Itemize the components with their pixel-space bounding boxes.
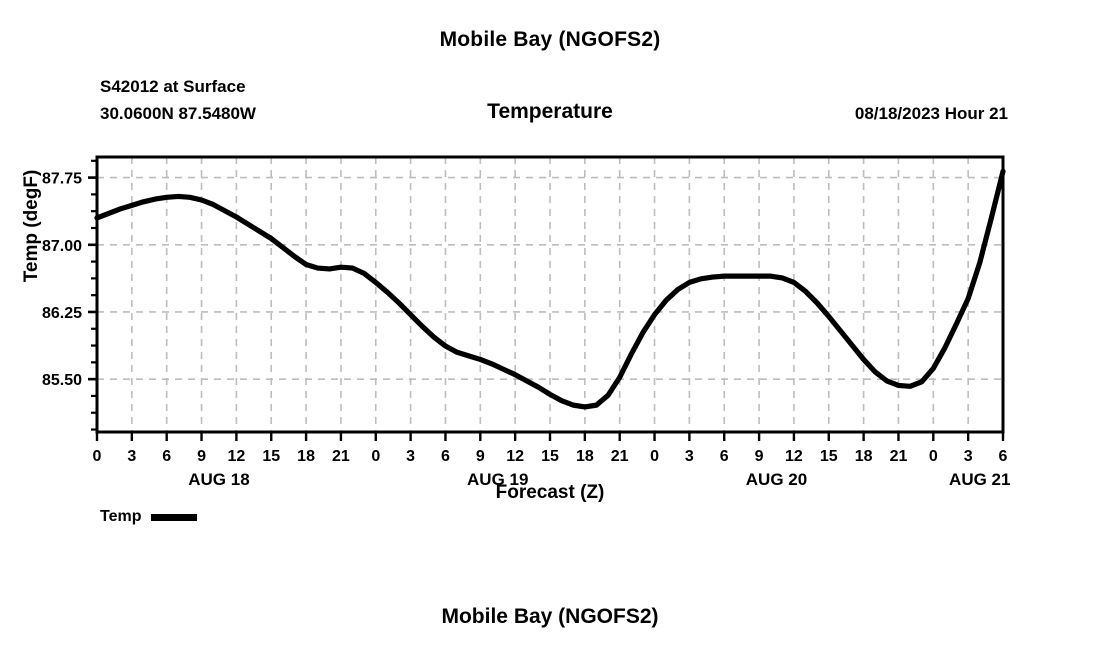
y-tick-label: 85.50 bbox=[42, 372, 82, 389]
x-tick-label: 6 bbox=[720, 448, 729, 465]
x-tick-label: 6 bbox=[999, 448, 1008, 465]
x-axis-day-label: AUG 21 bbox=[949, 470, 1010, 489]
page-title-bottom: Mobile Bay (NGOFS2) bbox=[0, 605, 1100, 629]
x-axis-day-label: AUG 19 bbox=[467, 470, 528, 489]
x-tick-label: 12 bbox=[506, 448, 524, 465]
chart-page: Mobile Bay (NGOFS2) S42012 at Surface 30… bbox=[0, 0, 1100, 650]
x-axis-day-label: AUG 20 bbox=[746, 470, 807, 489]
legend-swatch-temp bbox=[151, 514, 197, 521]
x-tick-label: 18 bbox=[855, 448, 873, 465]
x-tick-label: 3 bbox=[685, 448, 694, 465]
x-tick-label: 0 bbox=[371, 448, 380, 465]
x-tick-label: 3 bbox=[964, 448, 973, 465]
x-tick-label: 0 bbox=[93, 448, 102, 465]
x-tick-label: 3 bbox=[127, 448, 136, 465]
x-tick-label: 21 bbox=[890, 448, 908, 465]
x-tick-label: 18 bbox=[297, 448, 315, 465]
x-axis-day-label: AUG 18 bbox=[188, 470, 249, 489]
x-tick-label: 0 bbox=[650, 448, 659, 465]
x-tick-label: 6 bbox=[441, 448, 450, 465]
x-tick-label: 9 bbox=[476, 448, 485, 465]
x-tick-label: 18 bbox=[576, 448, 594, 465]
legend-label-temp: Temp bbox=[100, 508, 141, 526]
x-tick-label: 9 bbox=[197, 448, 206, 465]
x-tick-label: 6 bbox=[162, 448, 171, 465]
x-tick-label: 21 bbox=[611, 448, 629, 465]
x-tick-label: 21 bbox=[332, 448, 350, 465]
temperature-line-chart: 85.5086.2587.0087.7503691215182103691215… bbox=[0, 0, 1100, 650]
legend: Temp bbox=[100, 508, 197, 526]
x-tick-label: 15 bbox=[262, 448, 280, 465]
x-tick-label: 3 bbox=[406, 448, 415, 465]
y-tick-label: 87.00 bbox=[42, 238, 82, 255]
x-tick-label: 12 bbox=[785, 448, 803, 465]
x-tick-label: 15 bbox=[820, 448, 838, 465]
y-tick-label: 86.25 bbox=[42, 305, 82, 322]
x-tick-label: 0 bbox=[929, 448, 938, 465]
x-tick-label: 15 bbox=[541, 448, 559, 465]
y-tick-label: 87.75 bbox=[42, 171, 82, 188]
x-tick-label: 9 bbox=[755, 448, 764, 465]
x-tick-label: 12 bbox=[227, 448, 245, 465]
